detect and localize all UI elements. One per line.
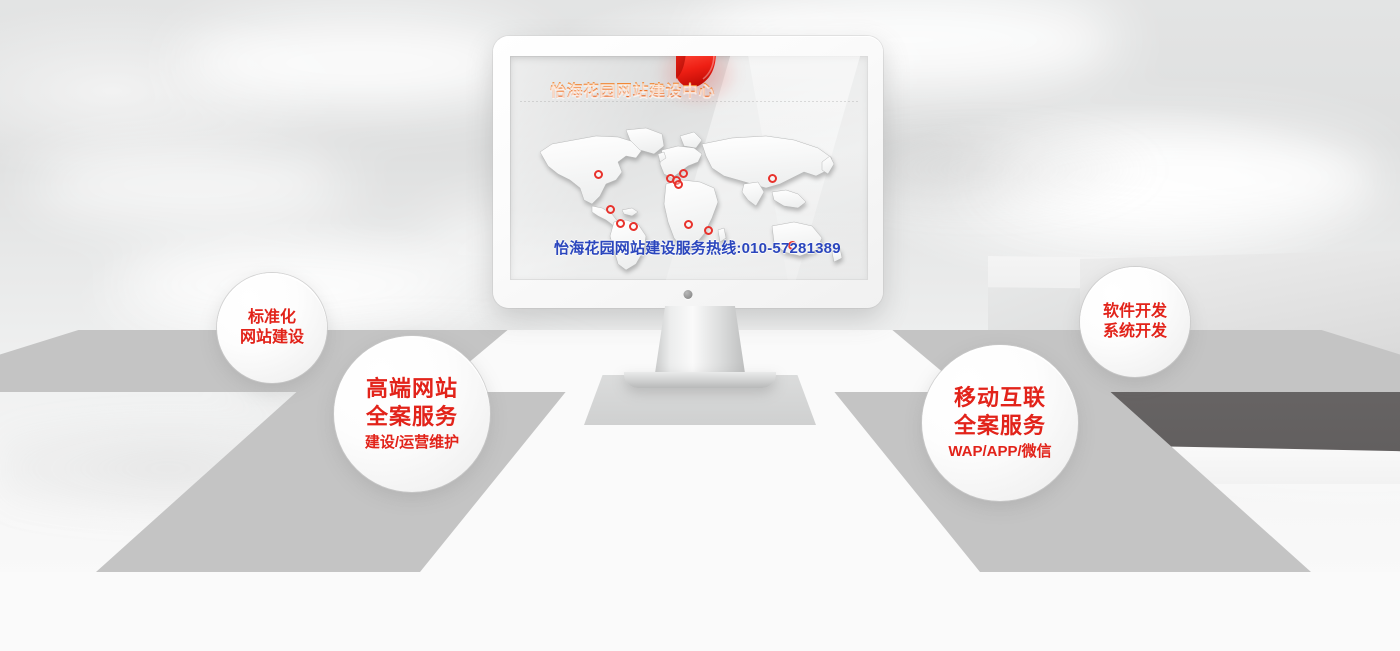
feature-line-3: 建设/运营维护 <box>365 433 459 453</box>
monitor-stand-base <box>624 372 776 388</box>
feature-line-2: 系统开发 <box>1103 322 1167 342</box>
map-marker <box>679 169 688 178</box>
feature-line-1: 移动互联 <box>954 384 1046 412</box>
map-marker <box>616 219 625 228</box>
feature-line-2: 全案服务 <box>954 412 1046 440</box>
map-marker <box>629 222 638 231</box>
hotline-text: 怡海花园网站建设服务热线:010-57281389 <box>554 237 841 258</box>
feature-line-3: WAP/APP/微信 <box>948 442 1051 462</box>
map-marker <box>704 226 713 235</box>
feature-line-1: 高端网站 <box>366 375 458 403</box>
map-marker <box>674 180 683 189</box>
floor-tile-white-near <box>0 572 1400 651</box>
banner-stage: 怡海花园网站建设中心 <box>0 0 1400 651</box>
feature-line-2: 全案服务 <box>366 403 458 431</box>
map-marker <box>684 220 693 229</box>
feature-circle-standard-website[interactable]: 标准化 网站建设 <box>217 273 327 383</box>
feature-circle-software-development[interactable]: 软件开发 系统开发 <box>1080 267 1190 377</box>
feature-circle-mobile-internet[interactable]: 移动互联 全案服务 WAP/APP/微信 <box>922 345 1078 501</box>
map-marker <box>606 205 615 214</box>
monitor-screen: 怡海花园网站建设中心 <box>510 56 868 280</box>
feature-line-1: 软件开发 <box>1103 302 1167 322</box>
computer-monitor: 怡海花园网站建设中心 <box>493 36 883 308</box>
feature-circle-premium-website[interactable]: 高端网站 全案服务 建设/运营维护 <box>334 336 490 492</box>
feature-line-1: 标准化 <box>248 308 296 328</box>
monitor-stand-neck <box>654 306 746 380</box>
power-led-icon <box>684 290 693 299</box>
feature-line-2: 网站建设 <box>240 328 304 348</box>
map-marker <box>594 170 603 179</box>
map-marker <box>768 174 777 183</box>
screen-title: 怡海花园网站建设中心 <box>550 77 715 101</box>
